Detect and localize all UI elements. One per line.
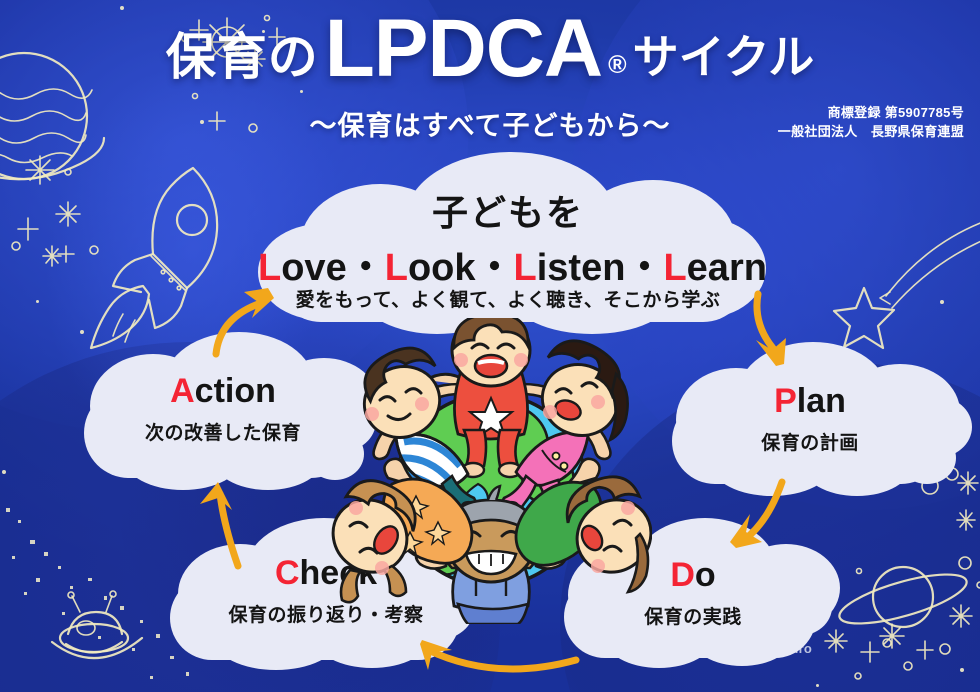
separator: ・: [625, 247, 663, 289]
title-row: 保育の LPDCA ® サイクル: [0, 8, 980, 90]
trademark-organization: 一般社団法人 長野県保育連盟: [778, 123, 964, 142]
accent-letter: L: [385, 247, 408, 289]
title-prefix: 保育の: [166, 32, 319, 90]
word-rest: isten: [537, 247, 626, 289]
saturn-icon: [845, 545, 980, 665]
cloud-top-heading: 子どもを: [258, 184, 758, 236]
shooting-star-icon: [830, 210, 980, 340]
separator: ・: [476, 247, 514, 289]
accent-letter: L: [514, 247, 537, 289]
trademark-notice: 商標登録 第5907785号 一般社団法人 長野県保育連盟: [778, 104, 964, 142]
arrow-do-to-check: [398, 630, 588, 688]
accent-letter: A: [170, 372, 195, 410]
cloud-plan-title: Plan: [648, 382, 972, 421]
page-title: LPDCA: [325, 8, 602, 90]
separator: ・: [347, 247, 385, 289]
arrow-top-to-plan: [744, 288, 844, 378]
title-suffix: サイクル: [633, 34, 815, 90]
accent-letter: L: [663, 247, 686, 289]
registered-mark-icon: ®: [608, 53, 626, 90]
arrow-plan-to-do: [724, 468, 834, 568]
accent-letter: P: [774, 382, 797, 420]
cloud-top-caption: 愛をもって、よく観て、よく聴き、そこから学ぶ: [258, 285, 758, 312]
word-rest: o: [695, 556, 716, 594]
accent-letter: D: [670, 556, 695, 594]
word-rest: ook: [408, 247, 476, 289]
six-children-holding-hands-around-globe: [330, 318, 652, 624]
lpdca-poster: 保育の LPDCA ® サイクル 〜保育はすべて子どもから〜 商標登録 第590…: [0, 0, 980, 692]
cloud-love-look-listen-learn: 子どもを Love・Look・Listen・Learn 愛をもって、よく観て、よ…: [258, 158, 758, 326]
arrow-check-to-action: [182, 472, 292, 578]
word-rest: ction: [195, 372, 276, 410]
word-rest: lan: [797, 382, 846, 420]
word-rest: earn: [687, 247, 767, 289]
cloud-plan-caption: 保育の計画: [648, 428, 972, 455]
cloud-top-english: Love・Look・Listen・Learn: [258, 236, 758, 291]
trademark-registration-number: 商標登録 第5907785号: [778, 104, 964, 123]
arrow-action-to-top: [196, 278, 306, 364]
